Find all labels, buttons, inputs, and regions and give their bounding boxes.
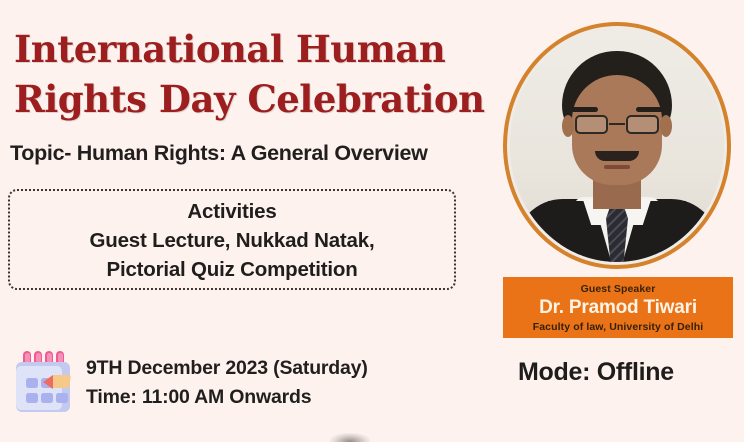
- topic-text: Topic- Human Rights: A General Overview: [10, 141, 428, 166]
- title-line-1: International Human: [14, 24, 489, 74]
- activities-line-1: Guest Lecture, Nukkad Natak,: [90, 226, 375, 255]
- event-time: Time: 11:00 AM Onwards: [86, 383, 368, 412]
- avatar: [503, 22, 731, 269]
- speaker-affiliation: Faculty of law, University of Delhi: [533, 320, 704, 334]
- pencil-icon: [43, 375, 70, 389]
- event-poster: International Human Rights Day Celebrati…: [0, 0, 744, 441]
- activities-box: Activities Guest Lecture, Nukkad Natak, …: [8, 189, 456, 290]
- speaker-photo: [510, 29, 724, 262]
- calendar-icon: [10, 348, 78, 418]
- schedule-row: 9TH December 2023 (Saturday) Time: 11:00…: [10, 348, 368, 418]
- speaker-role-label: Guest Speaker: [581, 282, 656, 296]
- schedule-text: 9TH December 2023 (Saturday) Time: 11:00…: [86, 354, 368, 412]
- page-title: International Human Rights Day Celebrati…: [14, 24, 489, 124]
- event-date: 9TH December 2023 (Saturday): [86, 354, 368, 383]
- activities-line-2: Pictorial Quiz Competition: [106, 255, 357, 284]
- poster-left-column: International Human Rights Day Celebrati…: [0, 0, 500, 441]
- activities-heading: Activities: [187, 198, 276, 226]
- glasses-icon: [574, 115, 660, 135]
- speaker-name: Dr. Pramod Tiwari: [539, 296, 697, 320]
- poster-right-column: Guest Speaker Dr. Pramod Tiwari Faculty …: [500, 0, 744, 441]
- event-mode: Mode: Offline: [518, 358, 674, 387]
- speaker-banner: Guest Speaker Dr. Pramod Tiwari Faculty …: [503, 277, 733, 338]
- title-line-2: Rights Day Celebration: [14, 74, 489, 124]
